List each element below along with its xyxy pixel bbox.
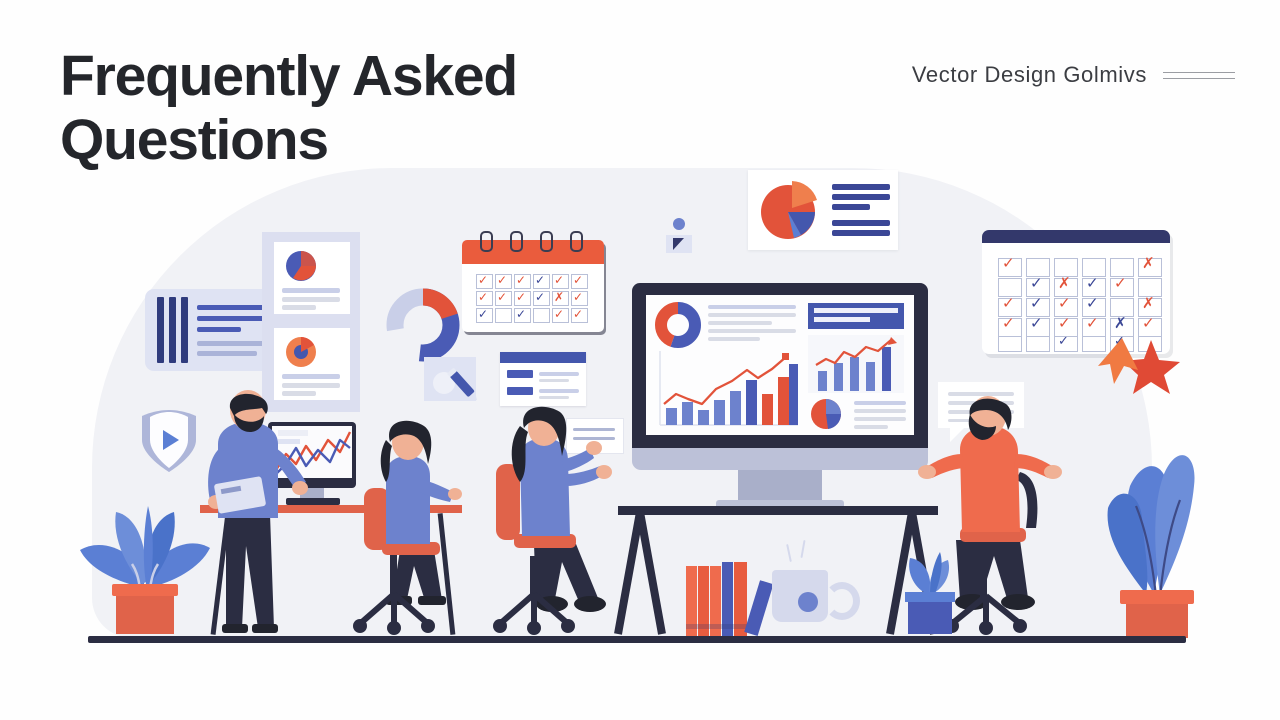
document-panel xyxy=(262,232,360,412)
main-monitor xyxy=(632,283,928,459)
shield-play-icon xyxy=(134,410,188,472)
brand-text: Vector Design Golmivs xyxy=(912,62,1147,88)
monitor-stand-neck xyxy=(738,470,822,502)
screen-pie-chart xyxy=(808,397,848,431)
potted-plant-left xyxy=(74,492,218,638)
donut-chart xyxy=(386,288,460,362)
coffee-mug xyxy=(772,570,828,622)
screen-main-chart xyxy=(654,351,800,431)
mini-document-bottom xyxy=(274,328,350,400)
monitor-chin xyxy=(632,448,928,470)
monitor-screen xyxy=(646,295,914,435)
mug-handle xyxy=(824,582,860,620)
pen-card xyxy=(424,357,476,401)
pie-chart-card xyxy=(748,170,898,250)
illustration-canvas: Frequently Asked Questions Vector Design… xyxy=(0,0,1280,720)
chair-base-center xyxy=(490,594,582,638)
floor-line xyxy=(88,636,1186,643)
orange-cursor-arrow xyxy=(1098,336,1146,388)
mini-document-top xyxy=(274,242,350,314)
chair-base-left xyxy=(350,594,442,638)
brand-mark: Vector Design Golmivs xyxy=(912,62,1235,88)
screen-donut-chart xyxy=(654,301,702,349)
double-rule-icon xyxy=(1163,72,1235,79)
list-card xyxy=(500,352,586,406)
screen-header-block xyxy=(808,303,904,329)
potted-plant-right xyxy=(1096,382,1224,638)
user-info-icon xyxy=(664,216,694,256)
board-header xyxy=(982,230,1170,243)
screen-secondary-chart xyxy=(808,335,904,393)
potted-plant-center xyxy=(886,548,972,638)
page-title: Frequently Asked Questions xyxy=(60,44,517,173)
wall-calendar: ✓ ✓ ✓ ✓ ✓ ✓ ✓ ✓ ✓ ✓ ✗ ✓ ✓ ✓ ✓ ✓ xyxy=(462,240,604,332)
